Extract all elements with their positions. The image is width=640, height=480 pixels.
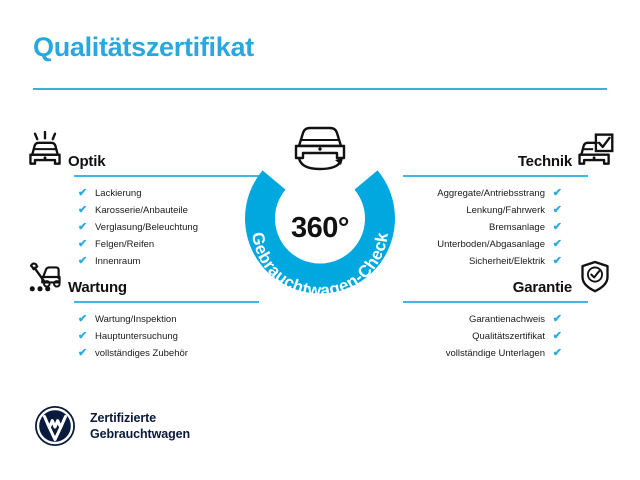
list-item-label: Bremsanlage [489,219,545,236]
page-title: Qualitätszertifikat [33,32,254,63]
check-icon: ✔ [78,314,90,325]
badge-360-gebrauchtwagen-check: Gebrauchtwagen-Check 360° [230,118,410,308]
check-icon: ✔ [78,188,90,199]
list-item-label: Verglasung/Beleuchtung [95,219,198,236]
list-item: ✔Qualitätszertifikat [403,328,562,345]
list-item-label: Qualitätszertifikat [472,328,545,345]
check-icon: ✔ [550,348,562,359]
vw-logo [33,404,77,448]
certificate-page: Qualitätszertifikat Optik [0,0,640,480]
section-title-wartung: Wartung [68,279,237,297]
list-item-label: Aggregate/Antriebsstrang [437,185,545,202]
list-item: ✔Bremsanlage [403,219,562,236]
check-icon: ✔ [78,348,90,359]
check-icon: ✔ [550,314,562,325]
check-icon: ✔ [550,239,562,250]
section-divider-garantie [403,301,588,303]
list-item: ✔Karosserie/Anbauteile [78,202,237,219]
list-item: ✔Verglasung/Beleuchtung [78,219,237,236]
check-icon: ✔ [550,205,562,216]
list-item-label: Felgen/Reifen [95,236,154,253]
brand-line-2: Gebrauchtwagen [90,426,190,442]
section-divider-technik [403,175,588,177]
list-item-label: Garantienachweis [469,311,545,328]
list-item: ✔Lenkung/Fahrwerk [403,202,562,219]
check-icon: ✔ [78,331,90,342]
check-icon: ✔ [78,222,90,233]
section-garantie: Garantie ✔Garantienachweis ✔Qualitätszer… [403,256,618,362]
list-item: ✔Unterboden/Abgasanlage [403,236,562,253]
list-item: ✔Garantienachweis [403,311,562,328]
list-item-label: Karosserie/Anbauteile [95,202,188,219]
list-item: ✔vollständige Unterlagen [403,345,562,362]
list-item-label: Unterboden/Abgasanlage [437,236,545,253]
shield-check-icon [572,256,618,298]
list-item: ✔Hauptuntersuchung [78,328,237,345]
check-icon: ✔ [550,222,562,233]
list-item: ✔Felgen/Reifen [78,236,237,253]
list-item: ✔Lackierung [78,185,237,202]
check-icon: ✔ [78,239,90,250]
section-title-optik: Optik [68,153,237,171]
list-item: ✔vollständiges Zubehör [78,345,237,362]
section-optik: Optik ✔Lackierung ✔Karosserie/Anbauteile… [22,130,237,270]
title-divider [33,88,607,90]
wrench-car-icon [22,256,68,298]
list-item-label: Lackierung [95,185,141,202]
brand-lockup: Zertifizierte Gebrauchtwagen [33,404,190,448]
brand-line-1: Zertifizierte [90,410,190,426]
list-item-label: vollständiges Zubehör [95,345,188,362]
check-icon: ✔ [550,331,562,342]
list-item-label: Lenkung/Fahrwerk [466,202,545,219]
section-technik: Technik ✔Aggregate/Antriebsstrang ✔Lenku… [403,130,618,270]
car-shine-icon [22,130,68,172]
list-item-label: vollständige Unterlagen [446,345,545,362]
badge-center-label: 360° [230,212,410,245]
check-icon: ✔ [550,188,562,199]
list-item: ✔Wartung/Inspektion [78,311,237,328]
car-checkbox-icon [572,130,618,172]
list-item-label: Hauptuntersuchung [95,328,178,345]
brand-text: Zertifizierte Gebrauchtwagen [90,410,190,442]
checklist-garantie: ✔Garantienachweis ✔Qualitätszertifikat ✔… [403,311,618,362]
checklist-wartung: ✔Wartung/Inspektion ✔Hauptuntersuchung ✔… [22,311,237,362]
section-title-garantie: Garantie [403,279,572,297]
list-item-label: Wartung/Inspektion [95,311,177,328]
check-icon: ✔ [78,205,90,216]
section-wartung: Wartung ✔Wartung/Inspektion ✔Hauptunters… [22,256,237,362]
section-title-technik: Technik [403,153,572,171]
list-item: ✔Aggregate/Antriebsstrang [403,185,562,202]
